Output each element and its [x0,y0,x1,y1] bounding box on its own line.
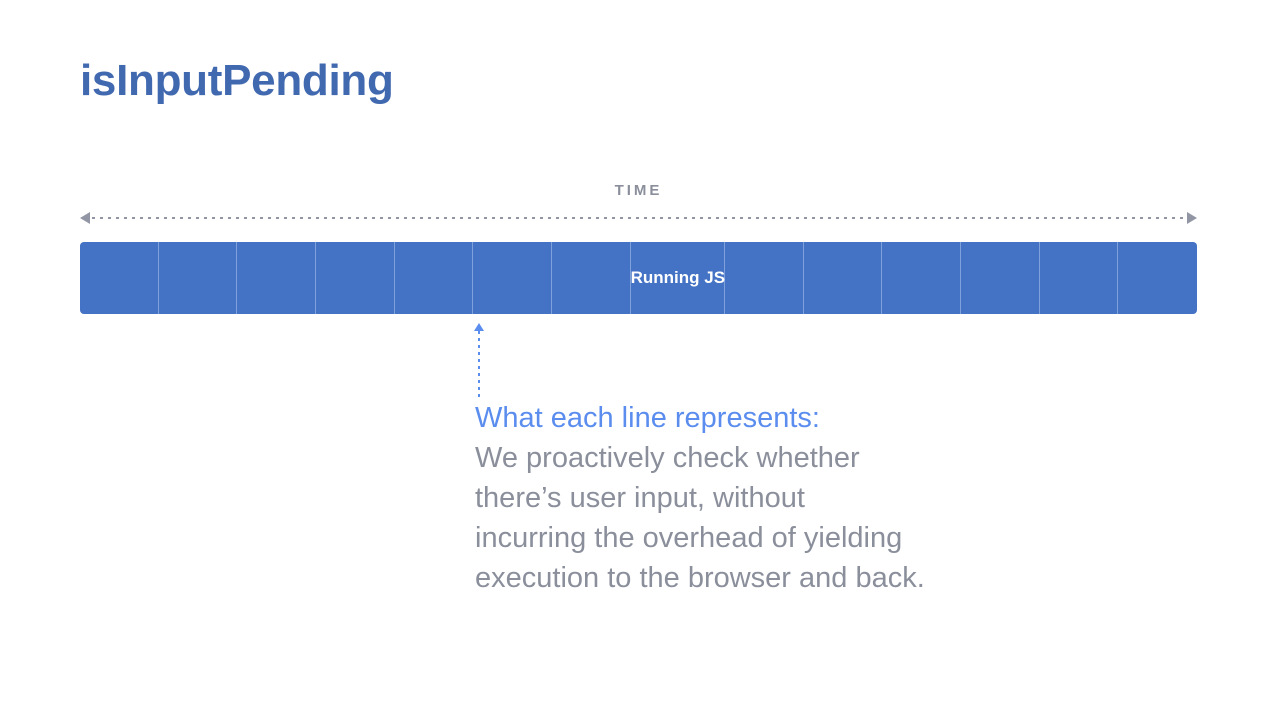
timeline-segment [882,242,961,314]
running-js-label: Running JS [631,268,725,288]
time-axis: TIME [80,182,1197,227]
timeline-segment [725,242,804,314]
page-title: isInputPending [80,57,394,105]
arrow-left-icon [80,212,90,224]
arrow-right-icon [1187,212,1197,224]
timeline-segment [237,242,316,314]
timeline-segment-running-js: Running JS [631,242,725,314]
time-axis-line [80,212,1197,224]
timeline-segment [961,242,1040,314]
timeline-segment [473,242,552,314]
pointer-dotted-line [478,331,480,398]
callout-heading: What each line represents: [475,398,995,438]
callout-body-line: execution to the browser and back. [475,558,995,598]
callout-pointer [473,323,485,398]
timeline-segment [316,242,395,314]
time-axis-label: TIME [80,182,1197,199]
arrow-up-icon [474,323,484,331]
callout-body: We proactively check whether there’s use… [475,438,995,598]
timeline-segment [552,242,631,314]
callout-text-block: What each line represents: We proactivel… [475,398,995,598]
timeline-segment [395,242,474,314]
callout-body-line: We proactively check whether [475,438,995,478]
dotted-line [92,217,1185,219]
callout-body-line: incurring the overhead of yielding [475,518,995,558]
timeline-bar: Running JS [80,242,1197,314]
timeline-segment [1040,242,1119,314]
timeline-segment [80,242,159,314]
timeline-segment [1118,242,1197,314]
timeline-segment [159,242,238,314]
timeline-segment [804,242,883,314]
callout-body-line: there’s user input, without [475,478,995,518]
